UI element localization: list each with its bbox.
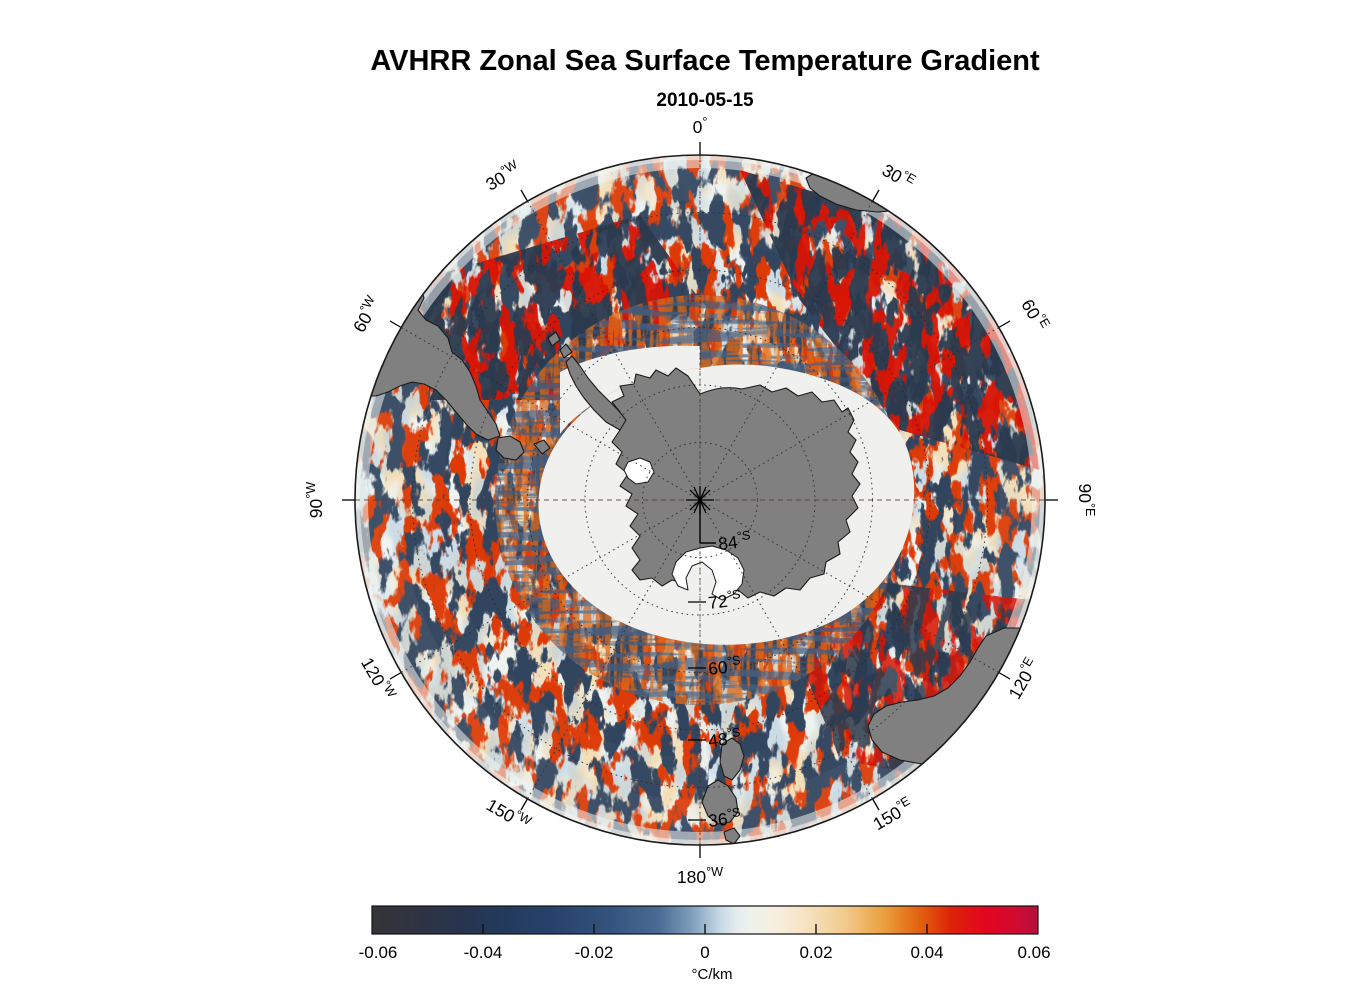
cb-tick-3: 0 <box>700 943 709 962</box>
page-subtitle: 2010-05-15 <box>656 90 754 111</box>
colorbar-unit-label: °C/km <box>692 966 733 983</box>
lon-label-90E: 90°E <box>1075 484 1097 517</box>
land-tasmania <box>914 766 946 792</box>
cb-tick-0: -0.06 <box>359 943 398 962</box>
lon-label-30W: 30°W <box>481 157 524 194</box>
cb-tick-1: -0.04 <box>464 943 503 962</box>
cb-tick-4: 0.02 <box>799 943 832 962</box>
lon-tick-120E <box>999 673 1010 680</box>
page-title: AVHRR Zonal Sea Surface Temperature Grad… <box>370 45 1040 77</box>
lon-label-120W: 120°W <box>357 653 399 704</box>
cb-tick-2: -0.02 <box>575 943 614 962</box>
cb-tick-5: 0.04 <box>910 943 943 962</box>
colorbar-tick-labels: -0.06 -0.04 -0.02 0 0.02 0.04 0.06 <box>359 943 1051 962</box>
cb-tick-6: 0.06 <box>1017 943 1050 962</box>
lon-label-150E: 150°E <box>869 794 917 834</box>
lon-tick-120W <box>390 673 401 680</box>
lon-tick-30W <box>521 190 528 201</box>
lon-label-60E: 60°E <box>1017 295 1053 334</box>
lon-tick-30E <box>873 190 880 201</box>
lon-label-90W: 90°W <box>304 482 326 519</box>
polar-map: 84°S 72°S 60°S 48°S 36°S 0° 30°E <box>304 115 1097 887</box>
lon-tick-150E <box>873 799 880 810</box>
lon-tick-60E <box>999 321 1010 328</box>
figure-canvas: AVHRR Zonal Sea Surface Temperature Grad… <box>0 0 1356 1000</box>
lon-label-0: 0° <box>693 115 708 137</box>
lon-label-30E: 30°E <box>879 158 918 194</box>
lon-label-180: 180°W <box>677 865 723 887</box>
colorbar[interactable]: -0.06 -0.04 -0.02 0 0.02 0.04 0.06 °C/km <box>359 906 1051 983</box>
lon-label-60W: 60°W <box>347 293 384 336</box>
lon-tick-60W <box>390 321 401 328</box>
lon-label-150W: 150°W <box>483 793 534 835</box>
